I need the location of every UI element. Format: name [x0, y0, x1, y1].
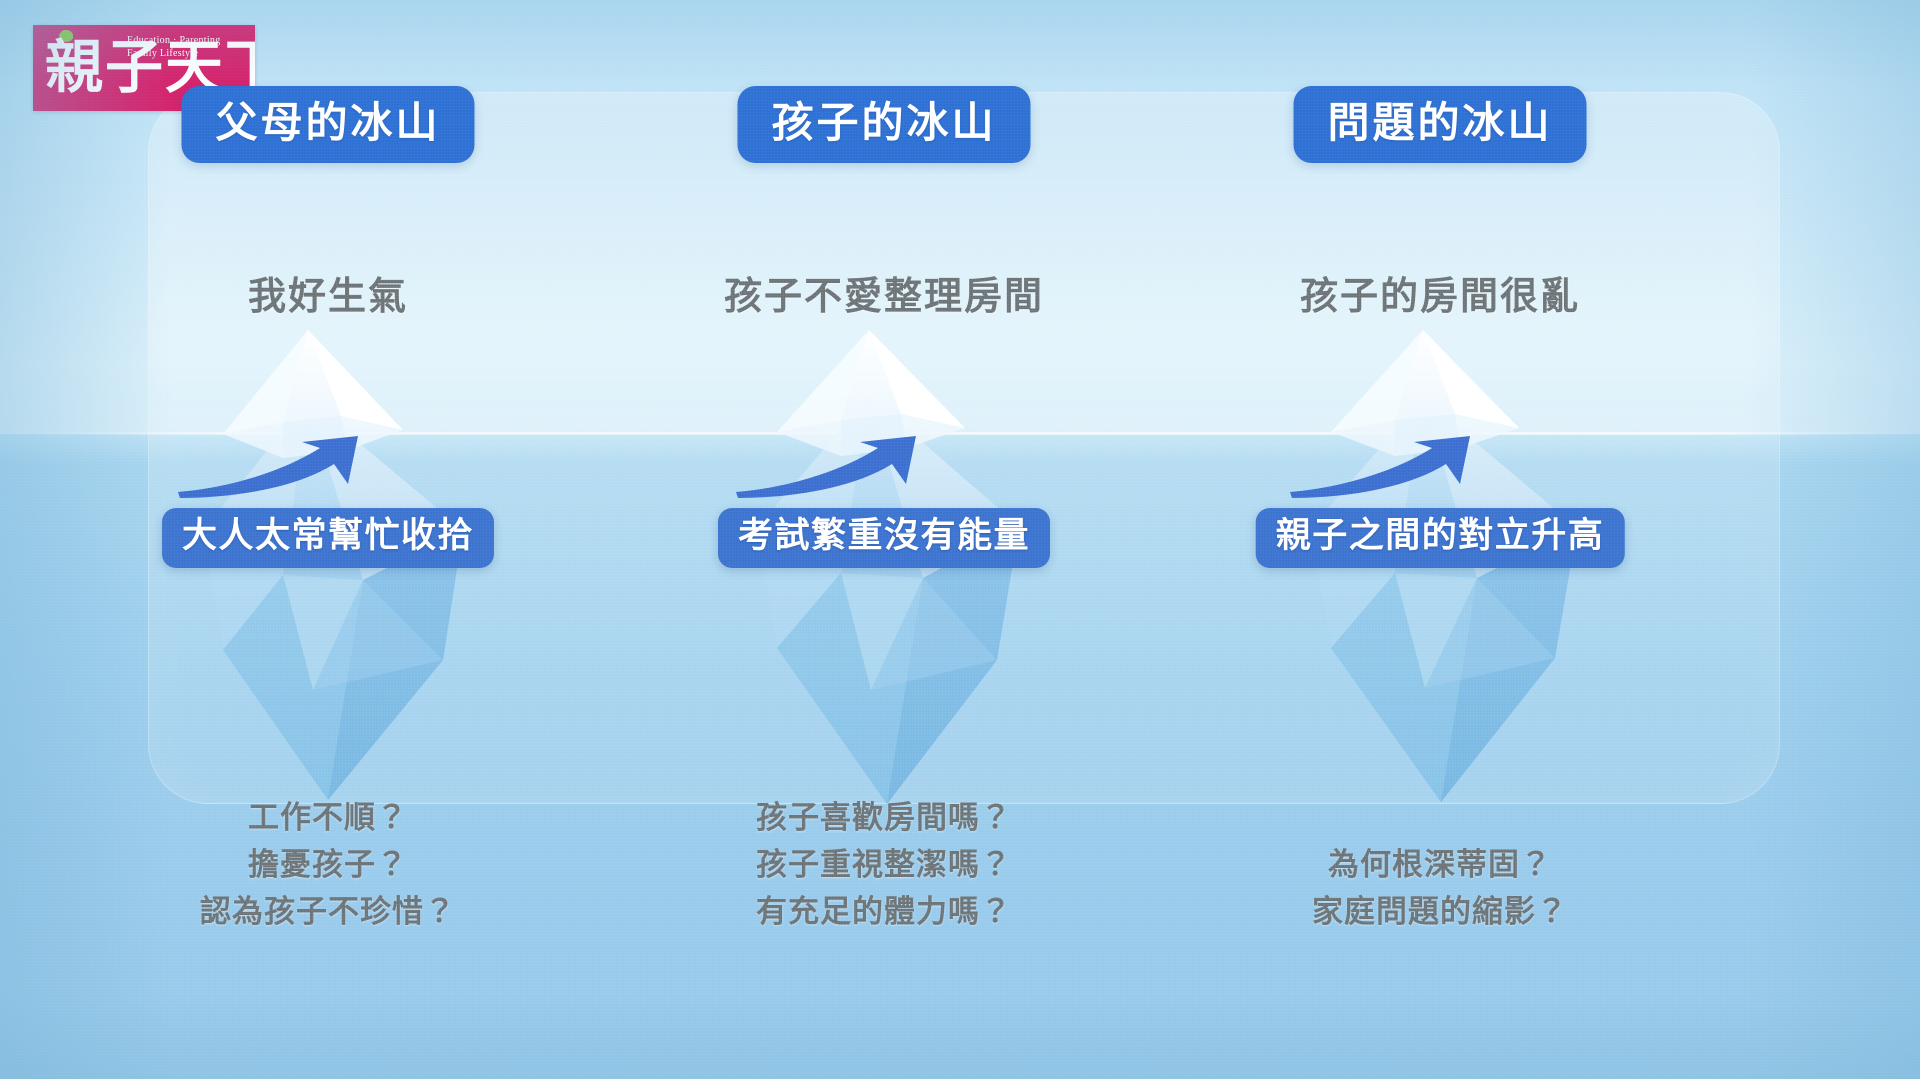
- iceberg-column-parent: 父母的冰山 我好生氣: [48, 0, 608, 1079]
- mid-label-parent[interactable]: 大人太常幫忙收拾: [162, 508, 494, 568]
- question-item: 認為孩子不珍惜？: [48, 889, 608, 936]
- column-heading-parent: 我好生氣: [48, 274, 608, 320]
- iceberg-column-child: 孩子的冰山 孩子不愛整理房間: [604, 0, 1164, 1079]
- iceberg-illustration: [163, 330, 493, 850]
- question-item: 孩子喜歡房間嗎？: [604, 795, 1164, 842]
- iceberg-illustration: [719, 330, 1049, 850]
- question-item: 為何根深蒂固？: [1160, 842, 1720, 889]
- column-title-child[interactable]: 孩子的冰山: [737, 86, 1030, 163]
- question-item: 工作不順？: [48, 795, 608, 842]
- iceberg-illustration: [1275, 330, 1605, 850]
- questions-child: 孩子喜歡房間嗎？ 孩子重視整潔嗎？ 有充足的體力嗎？: [604, 795, 1164, 936]
- question-item: 孩子重視整潔嗎？: [604, 842, 1164, 889]
- column-heading-problem: 孩子的房間很亂: [1160, 274, 1720, 320]
- mid-label-child[interactable]: 考試繁重沒有能量: [718, 508, 1050, 568]
- column-heading-child: 孩子不愛整理房間: [604, 274, 1164, 320]
- iceberg-column-problem: 問題的冰山 孩子的房間很亂: [1160, 0, 1720, 1079]
- questions-parent: 工作不順？ 擔憂孩子？ 認為孩子不珍惜？: [48, 795, 608, 936]
- mid-label-problem[interactable]: 親子之間的對立升高: [1256, 508, 1625, 568]
- column-title-problem[interactable]: 問題的冰山: [1293, 86, 1586, 163]
- question-item: 家庭問題的縮影？: [1160, 889, 1720, 936]
- upward-arrow-icon: [1282, 432, 1502, 502]
- question-item: 有充足的體力嗎？: [604, 889, 1164, 936]
- question-item: 擔憂孩子？: [48, 842, 608, 889]
- upward-arrow-icon: [728, 432, 948, 502]
- questions-problem: 為何根深蒂固？ 家庭問題的縮影？: [1160, 842, 1720, 936]
- upward-arrow-icon: [170, 432, 390, 502]
- column-title-parent[interactable]: 父母的冰山: [181, 86, 474, 163]
- infographic-stage: 親子天下 Education · Parenting Family Lifest…: [0, 0, 1920, 1079]
